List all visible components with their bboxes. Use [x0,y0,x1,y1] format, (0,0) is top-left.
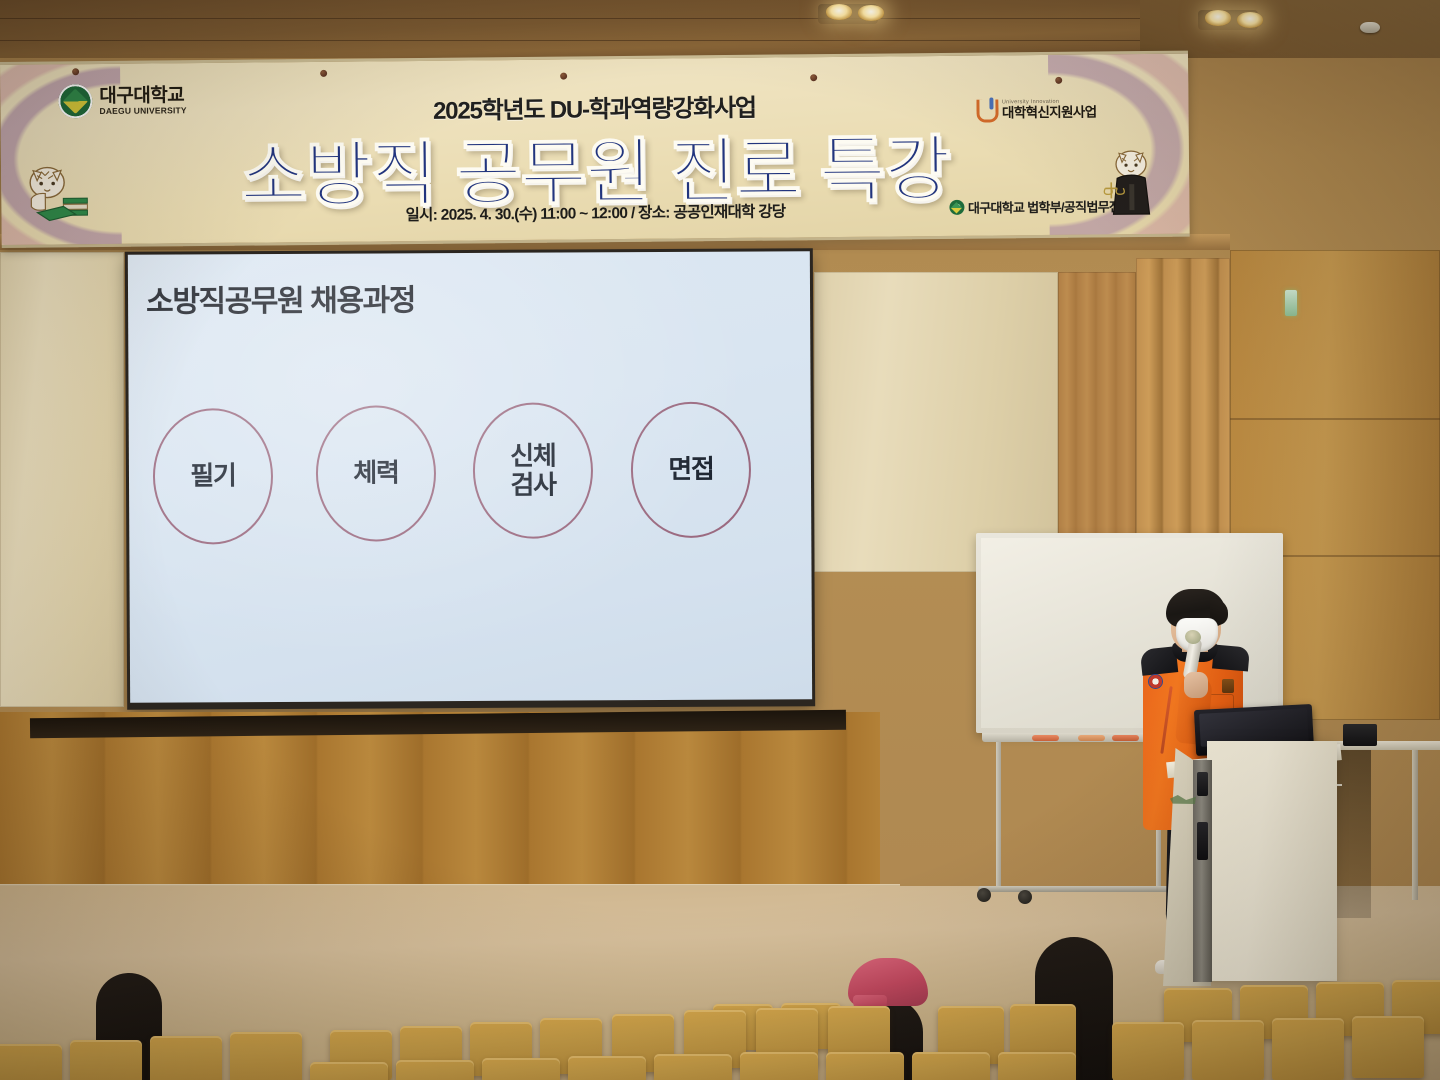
uniform-rank-patch-icon [1222,679,1234,693]
whiteboard-foot [978,886,1168,892]
podium-button[interactable] [1197,772,1208,796]
process-step-4: 면접 [631,402,752,539]
ceiling-downlight [1205,10,1231,26]
auditorium-seat[interactable] [1192,1020,1264,1080]
process-step-4-label: 면접 [668,455,713,484]
caster-icon [1018,890,1032,904]
auditorium-seat[interactable] [396,1060,474,1080]
caster-icon [977,888,991,902]
wall-wood-slats [1058,272,1136,572]
auditorium-seat[interactable] [150,1036,222,1080]
event-banner: 대구대학교 DAEGU UNIVERSITY University Innova… [0,51,1190,248]
banner-rivet [560,73,567,80]
stage-wainscot [0,712,880,898]
auditorium-seat[interactable] [1112,1022,1184,1080]
ceiling-downlight [826,4,852,20]
auditorium-seat[interactable] [70,1040,142,1080]
slide-title: 소방직공무원 채용과정 [146,275,415,320]
auditorium-seat[interactable] [998,1052,1076,1080]
table-leg [1412,750,1418,900]
marker-icon[interactable] [1112,735,1139,741]
ceiling-downlight [858,5,884,21]
exit-sign-icon [1285,290,1297,316]
department-emblem-icon [949,200,964,215]
banner-rivet [810,74,817,81]
auditorium-seat[interactable] [310,1062,388,1080]
banner-rivet [1055,77,1062,84]
wall-panel-center [814,272,1058,572]
lecture-hall-photo: 대구대학교 DAEGU UNIVERSITY University Innova… [0,0,1440,1080]
tiger-mascot-books-icon [15,156,96,229]
marker-icon[interactable] [1032,735,1059,741]
auditorium-seat[interactable] [1272,1018,1344,1080]
process-step-1-label: 필기 [190,462,235,491]
whiteboard-leg [996,742,1001,892]
smoke-detector-icon [1360,22,1380,33]
presenter-hand [1184,672,1208,698]
projected-slide: 소방직공무원 채용과정 필기 체력 신체 검사 면접 [128,251,812,703]
auditorium-seat[interactable] [230,1032,302,1080]
projector-screen: 소방직공무원 채용과정 필기 체력 신체 검사 면접 [125,248,815,710]
equipment-box [1343,724,1377,746]
ceiling-downlight [1237,12,1263,28]
podium-panel[interactable] [1197,822,1208,860]
process-step-1: 필기 [153,408,274,545]
auditorium-seat[interactable] [826,1052,904,1080]
auditorium-seat[interactable] [912,1052,990,1080]
marker-icon[interactable] [1078,735,1105,741]
uniform-shoulder-patch-icon [1148,674,1163,689]
process-step-2-label: 체력 [353,459,398,488]
process-step-3-label: 신체 검사 [510,441,556,499]
process-step-3: 신체 검사 [473,402,594,539]
banner-rivet [72,68,79,75]
auditorium-seat[interactable] [568,1056,646,1080]
auditorium-seat[interactable] [1352,1016,1424,1078]
podium [1207,741,1337,981]
auditorium-seat[interactable] [0,1044,62,1080]
wall-panel-left [0,252,124,707]
process-diagram: 필기 체력 신체 검사 면접 [153,403,794,546]
process-step-2: 체력 [316,405,437,542]
door-panel-line [1230,418,1440,420]
auditorium-seat[interactable] [482,1058,560,1080]
auditorium-seat[interactable] [740,1052,818,1080]
banner-rivet [320,70,327,77]
tiger-mascot-judge-icon [1093,142,1164,221]
auditorium-seat[interactable] [654,1054,732,1080]
